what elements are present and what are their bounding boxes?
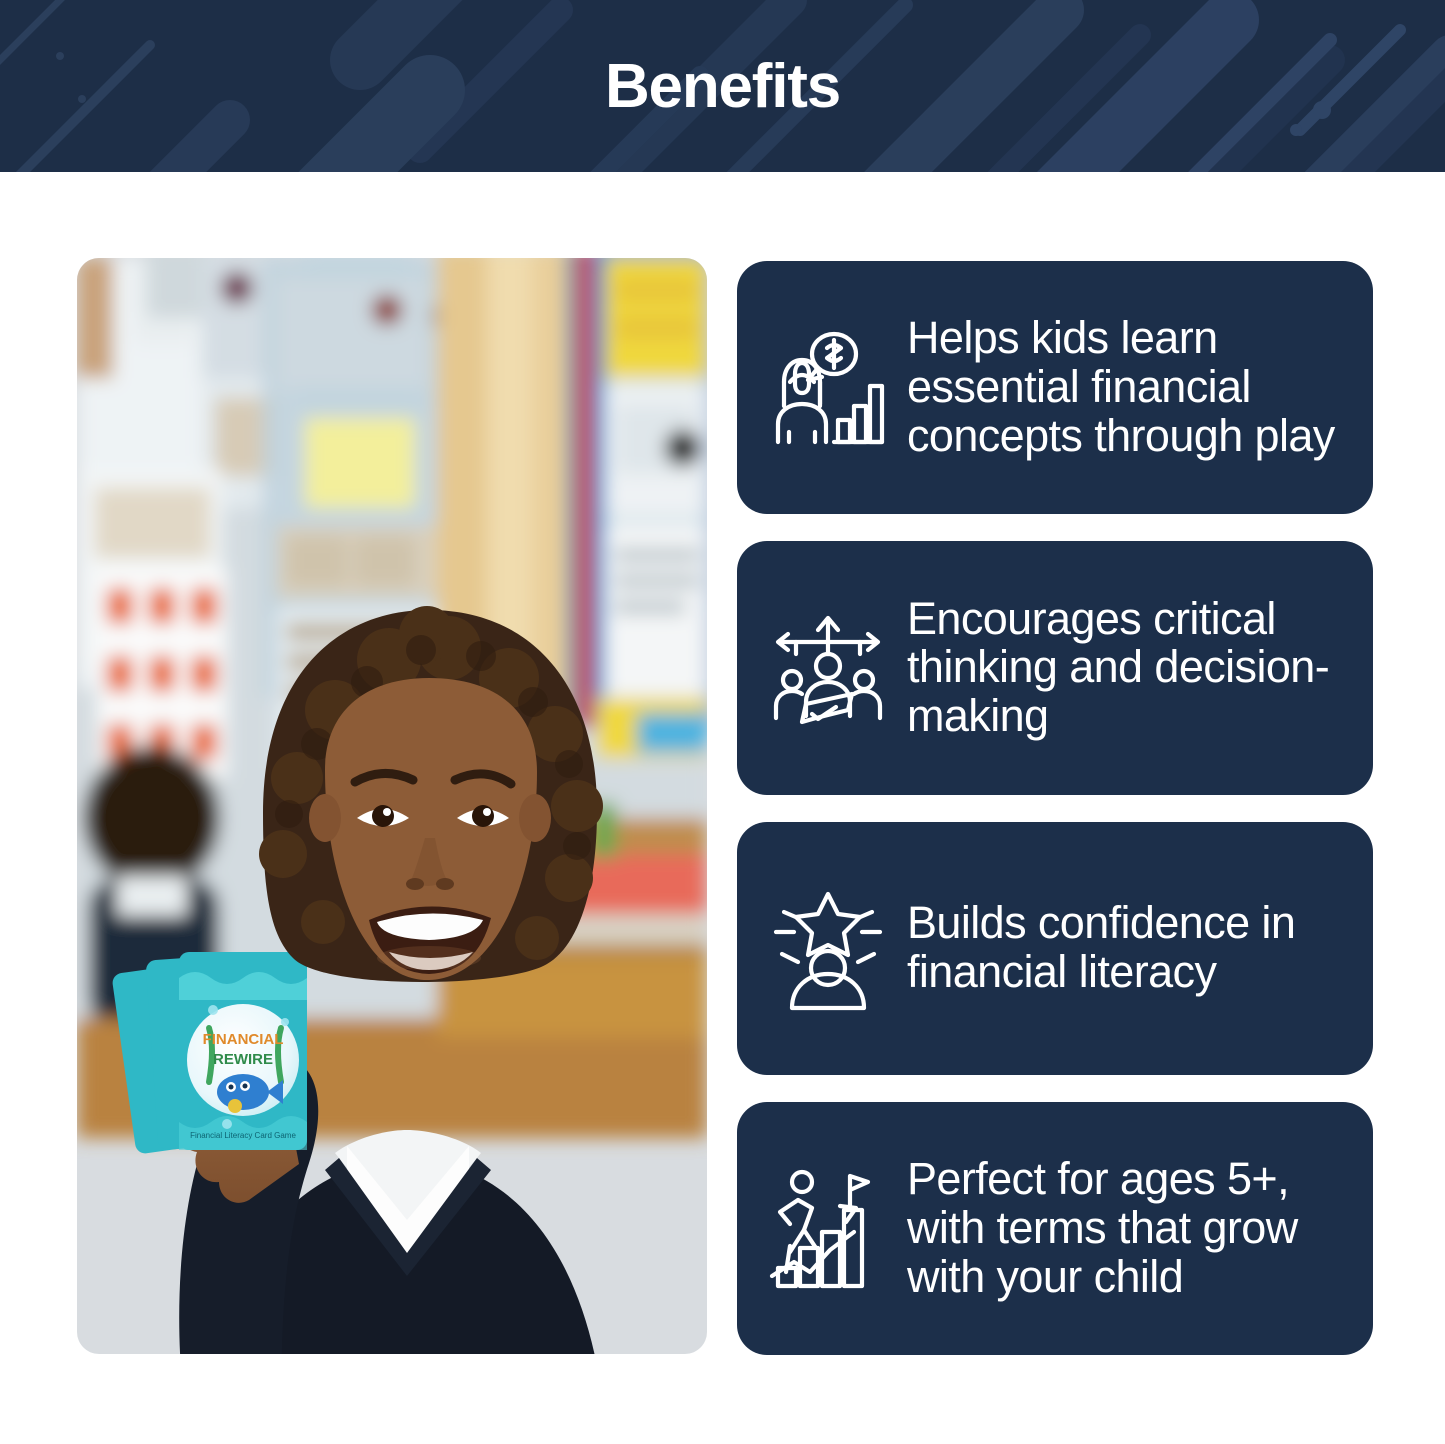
benefit-card-4[interactable]: Perfect for ages 5+, with terms that gro… <box>737 1102 1373 1355</box>
benefit-card-2[interactable]: Encourages critical thinking and decisio… <box>737 541 1373 794</box>
benefit-card-3[interactable]: Builds confidence in financial literacy <box>737 822 1373 1075</box>
person-climbing-growth-chart-icon <box>763 1164 893 1292</box>
benefit-card-3-text: Builds confidence in financial literacy <box>893 899 1357 997</box>
benefit-card-1[interactable]: Helps kids learn essential financial con… <box>737 261 1373 514</box>
benefit-card-4-text: Perfect for ages 5+, with terms that gro… <box>893 1155 1357 1301</box>
classroom-photo: N <box>77 258 707 1354</box>
svg-text:Financial Literacy Card Game: Financial Literacy Card Game <box>190 1131 296 1140</box>
star-person-confidence-icon <box>763 884 893 1012</box>
benefit-card-1-text: Helps kids learn essential financial con… <box>893 314 1357 460</box>
decision-arrows-people-icon <box>763 604 893 732</box>
person-finance-chart-icon <box>763 324 893 452</box>
svg-text:REWIRE: REWIRE <box>213 1051 273 1068</box>
svg-text:FINANCIAL: FINANCIAL <box>203 1031 284 1048</box>
classroom-photo-illustration: N <box>77 258 707 1354</box>
benefits-card-list: Helps kids learn essential financial con… <box>737 261 1373 1355</box>
page-title: Benefits <box>0 0 1445 172</box>
benefit-card-2-text: Encourages critical thinking and decisio… <box>893 595 1357 741</box>
page-header: Benefits <box>0 0 1445 172</box>
